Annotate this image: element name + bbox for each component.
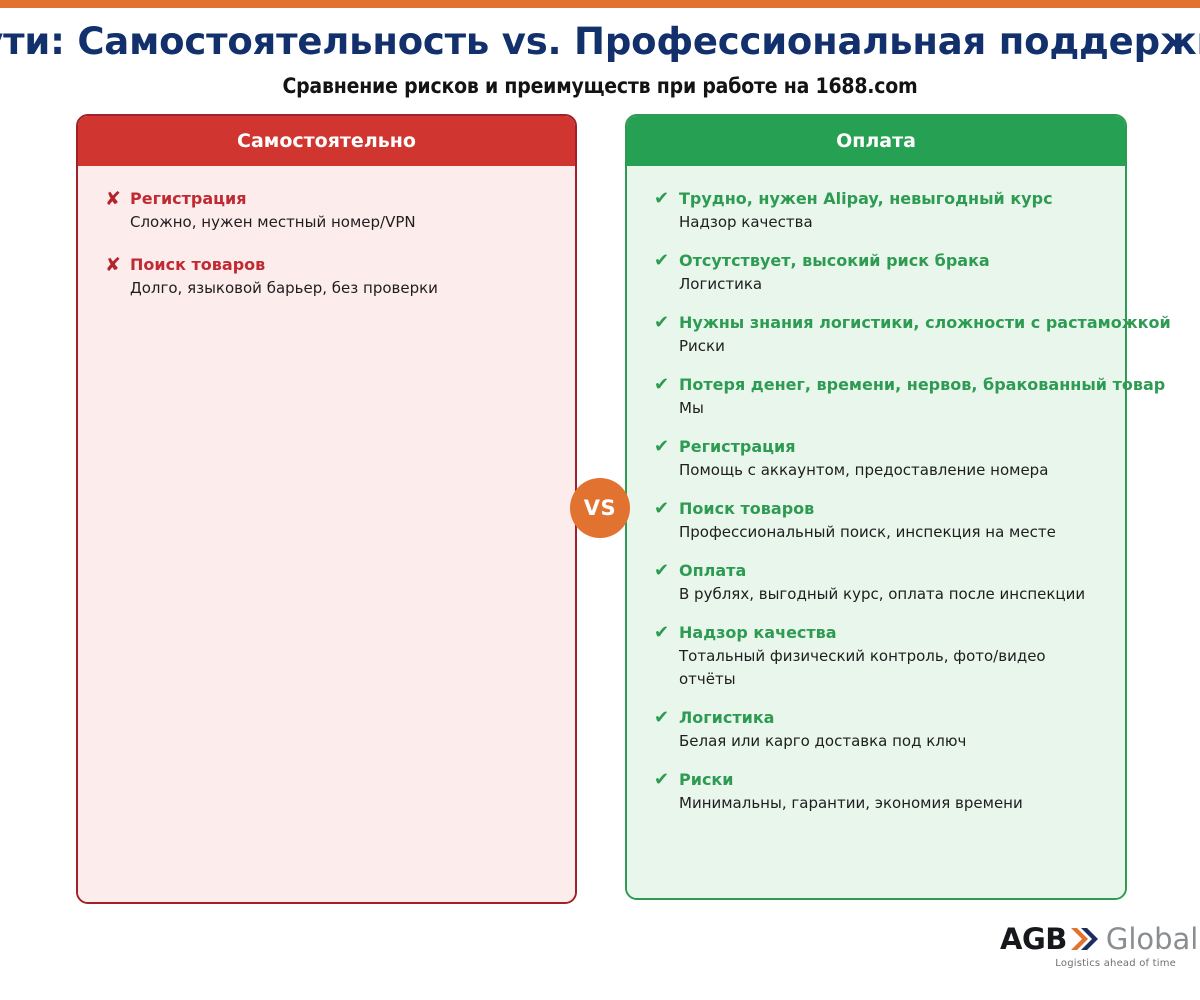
- card-header-self-service: Самостоятельно: [78, 116, 575, 166]
- list-item-desc: Тотальный физический контроль, фото/виде…: [679, 645, 1089, 691]
- list-item-title: Логистика: [679, 707, 1125, 729]
- double-chevron-icon: [1069, 926, 1099, 952]
- list-item: ✔ Отсутствует, высокий риск брака Логист…: [627, 250, 1125, 296]
- cross-icon: ✘: [105, 188, 121, 210]
- list-item: ✘ Регистрация Сложно, нужен местный номе…: [78, 188, 575, 234]
- check-icon: ✔: [654, 498, 669, 520]
- list-item-desc: Мы: [679, 397, 1089, 420]
- list-item: ✔ Логистика Белая или карго доставка под…: [627, 707, 1125, 753]
- list-item-desc: Надзор качества: [679, 211, 1089, 234]
- check-icon: ✔: [654, 250, 669, 272]
- check-icon: ✔: [654, 436, 669, 458]
- list-item-title: Риски: [679, 769, 1125, 791]
- list-item-title: Регистрация: [679, 436, 1125, 458]
- list-item: ✔ Трудно, нужен Alipay, невыгодный курс …: [627, 188, 1125, 234]
- logo-brand-text: AGB: [1000, 922, 1067, 956]
- logo-name-text: Global: [1106, 922, 1199, 956]
- list-item-desc: Белая или карго доставка под ключ: [679, 730, 1089, 753]
- check-icon: ✔: [654, 769, 669, 791]
- list-item: ✔ Надзор качества Тотальный физический к…: [627, 622, 1125, 691]
- top-accent-bar: [0, 0, 1200, 8]
- list-item-title: Потеря денег, времени, нервов, бракованн…: [679, 374, 1125, 396]
- check-icon: ✔: [654, 707, 669, 729]
- check-icon: ✔: [654, 188, 669, 210]
- comparison-card-professional: Оплата ✔ Трудно, нужен Alipay, невыгодны…: [625, 114, 1127, 900]
- cross-icon: ✘: [105, 254, 121, 276]
- list-item: ✔ Оплата В рублях, выгодный курс, оплата…: [627, 560, 1125, 606]
- check-icon: ✔: [654, 374, 669, 396]
- list-item-title: Регистрация: [130, 188, 575, 210]
- card-body-self-service: ✘ Регистрация Сложно, нужен местный номе…: [78, 166, 575, 902]
- list-item-title: Поиск товаров: [130, 254, 575, 276]
- list-item-title: Поиск товаров: [679, 498, 1125, 520]
- page-title: пути: Самостоятельность vs. Профессионал…: [0, 20, 1200, 63]
- list-item: ✔ Потеря денег, времени, нервов, бракова…: [627, 374, 1125, 420]
- list-item-title: Надзор качества: [679, 622, 1125, 644]
- vs-badge: VS: [570, 478, 630, 538]
- list-item: ✔ Регистрация Помощь с аккаунтом, предос…: [627, 436, 1125, 482]
- check-icon: ✔: [654, 312, 669, 334]
- list-item: ✘ Поиск товаров Долго, языковой барьер, …: [78, 254, 575, 300]
- list-item-title: Трудно, нужен Alipay, невыгодный курс: [679, 188, 1125, 210]
- list-item-desc: Логистика: [679, 273, 1089, 296]
- list-item: ✔ Риски Минимальны, гарантии, экономия в…: [627, 769, 1125, 815]
- logo-tagline: Logistics ahead of time: [1000, 958, 1180, 969]
- agb-global-logo: AGB Global Logistics ahead of time: [1000, 922, 1180, 978]
- card-header-professional: Оплата: [627, 116, 1125, 166]
- card-body-professional: ✔ Трудно, нужен Alipay, невыгодный курс …: [627, 166, 1125, 898]
- list-item: ✔ Поиск товаров Профессиональный поиск, …: [627, 498, 1125, 544]
- list-item-title: Нужны знания логистики, сложности с раст…: [679, 312, 1125, 334]
- list-item-desc: В рублях, выгодный курс, оплата после ин…: [679, 583, 1089, 606]
- list-item-title: Оплата: [679, 560, 1125, 582]
- list-item: ✔ Нужны знания логистики, сложности с ра…: [627, 312, 1125, 358]
- comparison-card-self-service: Самостоятельно ✘ Регистрация Сложно, нуж…: [76, 114, 577, 904]
- list-item-desc: Помощь с аккаунтом, предоставление номер…: [679, 459, 1089, 482]
- check-icon: ✔: [654, 622, 669, 644]
- list-item-desc: Профессиональный поиск, инспекция на мес…: [679, 521, 1089, 544]
- page-subtitle: Сравнение рисков и преимуществ при работ…: [0, 74, 1200, 98]
- check-icon: ✔: [654, 560, 669, 582]
- list-item-desc: Минимальны, гарантии, экономия времени: [679, 792, 1089, 815]
- list-item-desc: Риски: [679, 335, 1089, 358]
- list-item-desc: Сложно, нужен местный номер/VPN: [130, 211, 575, 234]
- list-item-desc: Долго, языковой барьер, без проверки: [130, 277, 575, 300]
- list-item-title: Отсутствует, высокий риск брака: [679, 250, 1125, 272]
